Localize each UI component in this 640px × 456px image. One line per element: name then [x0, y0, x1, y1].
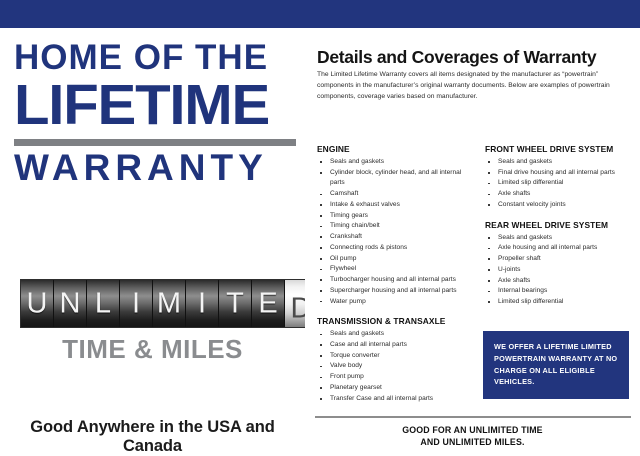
list-item: Camshaft — [317, 189, 475, 200]
list-item: Final drive housing and all internal par… — [485, 168, 637, 179]
footer-text: GOOD FOR AN UNLIMITED TIME AND UNLIMITED… — [305, 424, 640, 449]
coverage-area-tagline: Good Anywhere in the USA and Canada — [0, 418, 305, 456]
details-heading: Details and Coverages of Warranty — [317, 47, 596, 68]
section-heading-engine: ENGINE — [317, 144, 475, 154]
list-item: Water pump — [317, 297, 475, 308]
list-item: Axle shafts — [485, 276, 637, 287]
list-item: U-joints — [485, 265, 637, 276]
odometer-cell-letter: I — [186, 287, 218, 320]
odometer-cell-letter: M — [153, 287, 185, 320]
list-item: Cylinder block, cylinder head, and all i… — [317, 168, 475, 189]
odometer-cell-letter: E — [252, 287, 284, 320]
list-item: Seals and gaskets — [317, 329, 475, 340]
list-item: Connecting rods & pistons — [317, 243, 475, 254]
section-heading-rear-wheel-drive: REAR WHEEL DRIVE SYSTEM — [485, 220, 637, 230]
odometer-cell: M — [153, 280, 186, 327]
footer-divider — [315, 416, 631, 418]
odometer-cell-letter: U — [21, 287, 53, 320]
list-transmission: Seals and gasketsCase and all internal p… — [317, 329, 475, 404]
logo-line-lifetime: LIFETIME — [14, 77, 302, 134]
odometer-cell: I — [186, 280, 219, 327]
list-item: Axle housing and all internal parts — [485, 243, 637, 254]
logo-line-home: HOME OF THE — [14, 40, 296, 75]
section-spacer — [485, 211, 637, 220]
list-item: Timing chain/belt — [317, 221, 475, 232]
logo-divider-bar — [14, 139, 296, 146]
odometer-cell: N — [54, 280, 87, 327]
list-item: Torque converter — [317, 351, 475, 362]
top-navy-band — [0, 0, 640, 28]
list-item: Valve body — [317, 361, 475, 372]
list-item: Planetary gearset — [317, 383, 475, 394]
odometer-cell: E — [252, 280, 285, 327]
section-rear-wheel-drive: REAR WHEEL DRIVE SYSTEM Seals and gasket… — [485, 220, 637, 308]
list-item: Internal bearings — [485, 286, 637, 297]
list-item: Seals and gaskets — [317, 157, 475, 168]
callout-text: WE OFFER A LIFETIME LIMITED POWERTRAIN W… — [494, 341, 620, 388]
list-rear-wheel-drive: Seals and gasketsAxle housing and all in… — [485, 233, 637, 308]
list-front-wheel-drive: Seals and gasketsFinal drive housing and… — [485, 157, 637, 211]
list-item: Front pump — [317, 372, 475, 383]
section-engine: ENGINE Seals and gasketsCylinder block, … — [317, 144, 475, 307]
right-details-panel: Details and Coverages of Warranty The Li… — [305, 28, 640, 427]
section-heading-front-wheel-drive: FRONT WHEEL DRIVE SYSTEM — [485, 144, 637, 154]
footer-line-2: AND UNLIMITED MILES. — [305, 436, 640, 448]
warranty-flyer: HOME OF THE LIFETIME WARRANTY UNLIMITED … — [0, 0, 640, 427]
left-branding-panel: HOME OF THE LIFETIME WARRANTY UNLIMITED … — [0, 28, 305, 427]
list-item: Transfer Case and all internal parts — [317, 394, 475, 405]
coverage-column-left: ENGINE Seals and gasketsCylinder block, … — [317, 144, 475, 404]
list-item: Seals and gaskets — [485, 233, 637, 244]
list-item: Turbocharger housing and all internal pa… — [317, 275, 475, 286]
list-engine: Seals and gasketsCylinder block, cylinde… — [317, 157, 475, 307]
section-spacer — [317, 307, 475, 316]
list-item: Case and all internal parts — [317, 340, 475, 351]
list-item: Seals and gaskets — [485, 157, 637, 168]
odometer-cell: T — [219, 280, 252, 327]
odometer-cell-letter: T — [219, 287, 251, 320]
list-item: Timing gears — [317, 211, 475, 222]
list-item: Oil pump — [317, 254, 475, 265]
section-heading-transmission: TRANSMISSION & TRANSAXLE — [317, 316, 475, 326]
list-item: Crankshaft — [317, 232, 475, 243]
list-item: Limited slip differential — [485, 178, 637, 189]
footer-line-1: GOOD FOR AN UNLIMITED TIME — [305, 424, 640, 436]
list-item: Limited slip differential — [485, 297, 637, 308]
time-and-miles-label: TIME & MILES — [0, 334, 305, 365]
odometer-cell: L — [87, 280, 120, 327]
section-front-wheel-drive: FRONT WHEEL DRIVE SYSTEM Seals and gaske… — [485, 144, 637, 211]
list-item: Constant velocity joints — [485, 200, 637, 211]
list-item: Intake & exhaust valves — [317, 200, 475, 211]
callout-box: WE OFFER A LIFETIME LIMITED POWERTRAIN W… — [483, 331, 629, 399]
odometer-cell-letter: N — [54, 287, 86, 320]
logo-line-warranty: WARRANTY — [14, 149, 296, 186]
details-body-text: The Limited Lifetime Warranty covers all… — [317, 70, 629, 103]
list-item: Flywheel — [317, 264, 475, 275]
odometer-cell-letter: I — [120, 287, 152, 320]
lifetime-warranty-logo: HOME OF THE LIFETIME WARRANTY — [14, 40, 296, 186]
odometer-graphic: UNLIMITED — [21, 280, 317, 327]
list-item: Propeller shaft — [485, 254, 637, 265]
list-item: Supercharger housing and all internal pa… — [317, 286, 475, 297]
odometer-cell: U — [21, 280, 54, 327]
list-item: Axle shafts — [485, 189, 637, 200]
section-transmission: TRANSMISSION & TRANSAXLE Seals and gaske… — [317, 316, 475, 404]
odometer-cell: I — [120, 280, 153, 327]
odometer-cell-letter: L — [87, 287, 119, 320]
